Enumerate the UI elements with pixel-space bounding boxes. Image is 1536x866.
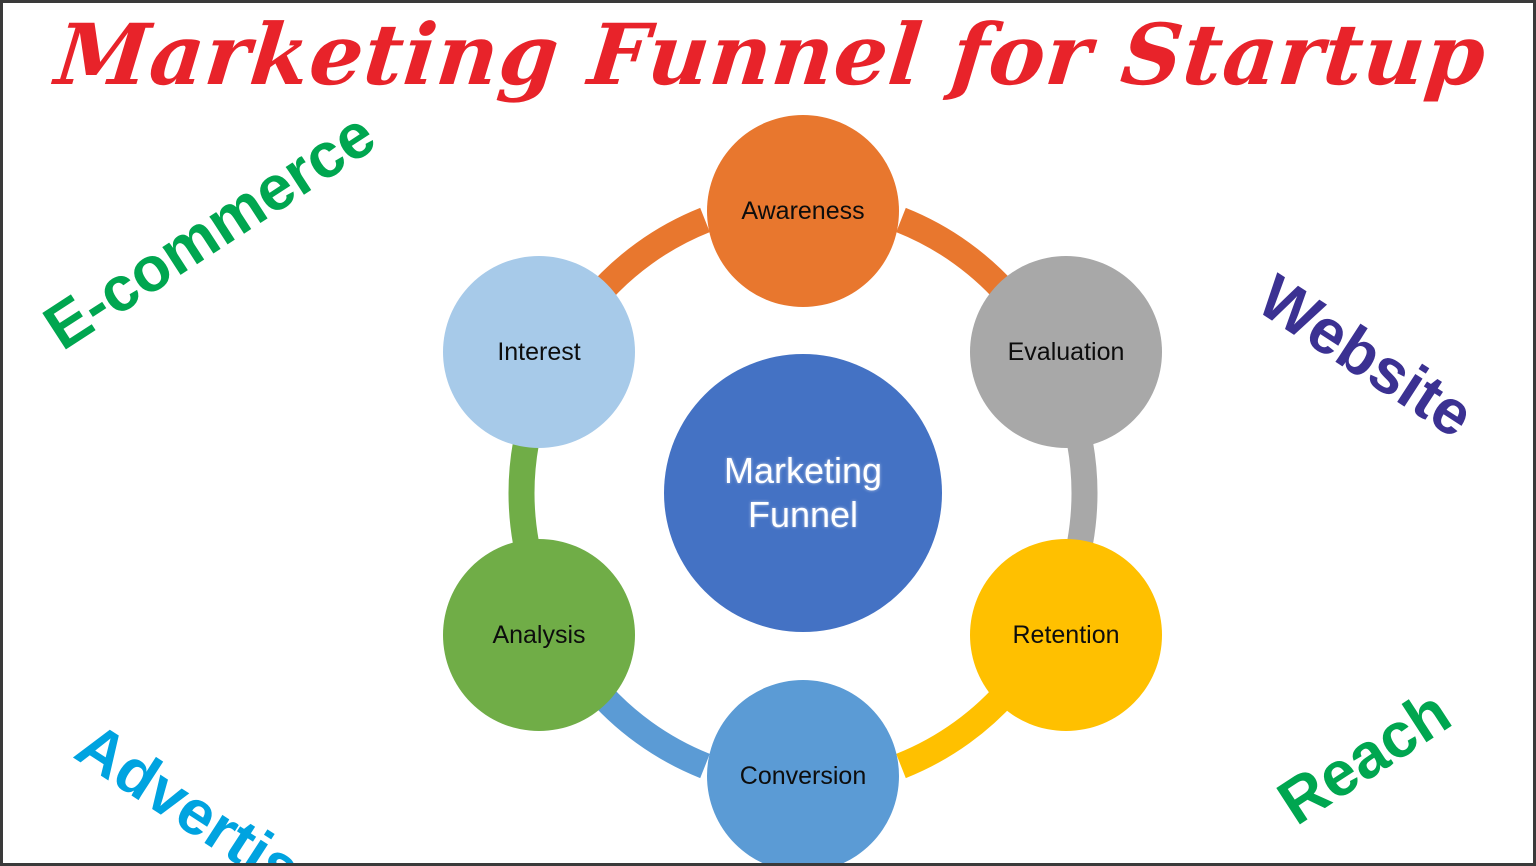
stage-label-retention: Retention xyxy=(1012,621,1119,650)
stage-label-interest: Interest xyxy=(497,338,580,367)
connector-analysis-interest xyxy=(522,443,526,543)
stage-circle-interest[interactable]: Interest xyxy=(443,256,635,448)
stage-label-evaluation: Evaluation xyxy=(1008,338,1125,367)
center-hub-circle[interactable]: Marketing Funnel xyxy=(664,354,942,632)
center-hub-label: Marketing Funnel xyxy=(724,449,882,537)
stage-circle-awareness[interactable]: Awareness xyxy=(707,115,899,307)
stage-label-analysis: Analysis xyxy=(492,621,585,650)
stage-circle-conversion[interactable]: Conversion xyxy=(707,680,899,866)
stage-circle-retention[interactable]: Retention xyxy=(970,539,1162,731)
stage-circle-evaluation[interactable]: Evaluation xyxy=(970,256,1162,448)
marketing-funnel-diagram: Marketing Funnel for Startup Awareness E… xyxy=(0,0,1536,866)
stage-circle-analysis[interactable]: Analysis xyxy=(443,539,635,731)
stage-label-awareness: Awareness xyxy=(741,197,864,226)
connector-evaluation-retention xyxy=(1080,443,1084,543)
stage-label-conversion: Conversion xyxy=(740,762,866,791)
